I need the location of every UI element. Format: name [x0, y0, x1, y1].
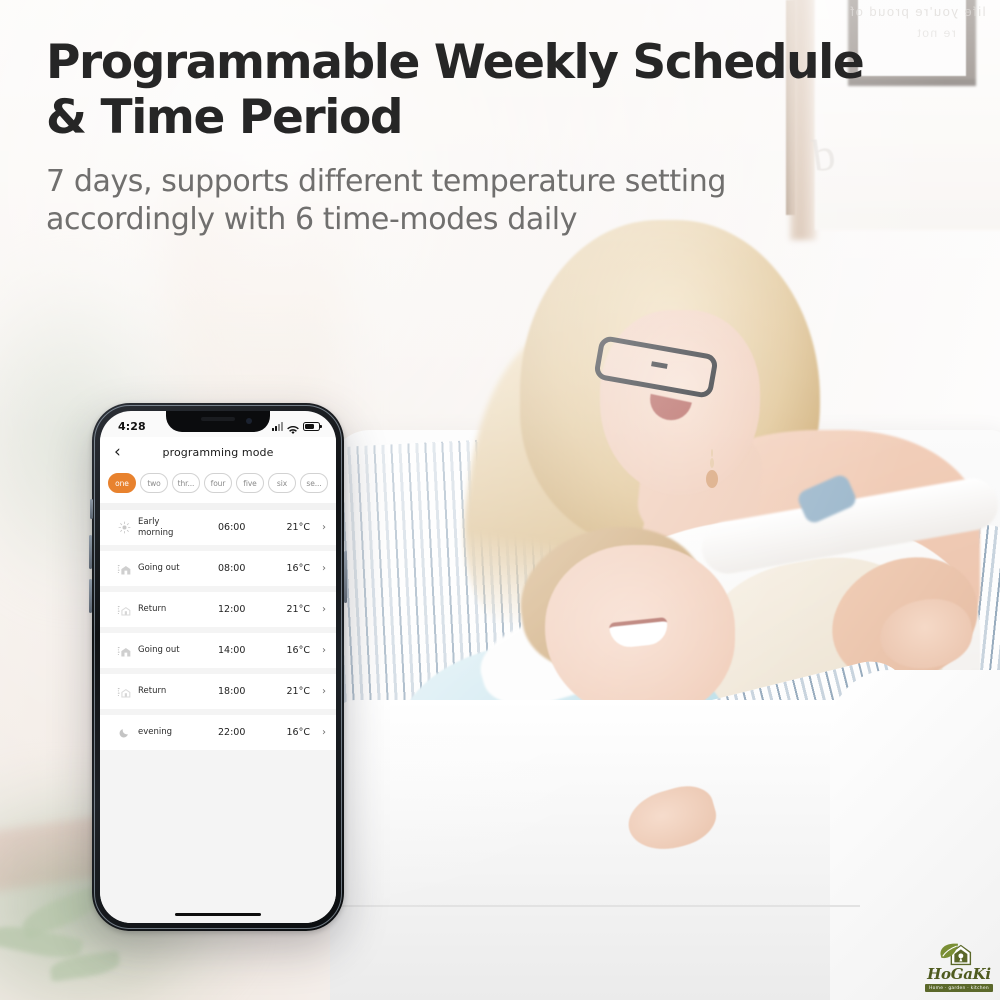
- headline-block: Programmable Weekly Schedule & Time Peri…: [46, 36, 906, 239]
- app-nav-bar: ‹ programming mode: [100, 437, 336, 467]
- schedule-list[interactable]: Early morning06:0021°C›Going out08:0016°…: [100, 510, 336, 756]
- house-leave-icon: [113, 644, 135, 658]
- phone-volume-down-button[interactable]: [89, 579, 92, 613]
- moon-icon: [113, 726, 135, 739]
- schedule-row-label: Return: [135, 686, 218, 696]
- list-top-divider: [100, 503, 336, 510]
- schedule-row-time: 22:00: [218, 727, 270, 738]
- schedule-row-temperature: 21°C: [270, 604, 310, 615]
- schedule-row-temperature: 16°C: [270, 727, 310, 738]
- phone-power-button[interactable]: [344, 551, 347, 603]
- pendant-necklace: [706, 470, 718, 488]
- schedule-row-label: evening: [135, 727, 218, 737]
- day-selector[interactable]: onetwothr...fourfivesixse...: [100, 467, 336, 503]
- day-pill-1[interactable]: one: [108, 473, 136, 493]
- battery-icon: [303, 422, 320, 431]
- status-bar-time: 4:28: [118, 420, 146, 433]
- status-bar: 4:28: [100, 411, 336, 437]
- schedule-row-time: 14:00: [218, 645, 270, 656]
- day-pill-5[interactable]: five: [236, 473, 264, 493]
- logo-tagline: Home · garden · kitchen: [925, 984, 993, 992]
- day-pill-2[interactable]: two: [140, 473, 168, 493]
- phone-mute-switch[interactable]: [90, 499, 93, 519]
- wifi-icon: [287, 422, 299, 431]
- schedule-row-time: 12:00: [218, 604, 270, 615]
- chevron-right-icon[interactable]: ›: [310, 727, 326, 738]
- chevron-right-icon[interactable]: ›: [310, 645, 326, 656]
- house-leave-icon: [113, 562, 135, 576]
- day-pill-6[interactable]: six: [268, 473, 296, 493]
- sun-icon: [113, 521, 135, 534]
- status-bar-icons: [272, 422, 320, 431]
- day-pill-3[interactable]: thr...: [172, 473, 200, 493]
- schedule-row-label: Return: [135, 604, 218, 614]
- schedule-row-temperature: 21°C: [270, 686, 310, 697]
- schedule-row-time: 06:00: [218, 522, 270, 533]
- page-title: Programmable Weekly Schedule & Time Peri…: [46, 36, 906, 145]
- phone-mockup: 4:28 ‹: [92, 403, 344, 931]
- subtitle-line-2: accordingly with 6 time-modes daily: [46, 201, 906, 239]
- schedule-row-label: Going out: [135, 563, 218, 573]
- registered-mark: ®: [976, 969, 979, 974]
- wall-art-text-line1: life you're proud of: [849, 4, 986, 19]
- phone-screen: 4:28 ‹: [100, 411, 336, 923]
- chevron-right-icon[interactable]: ›: [310, 686, 326, 697]
- schedule-row-time: 08:00: [218, 563, 270, 574]
- chevron-right-icon[interactable]: ›: [310, 522, 326, 533]
- schedule-row[interactable]: Going out14:0016°C›: [100, 633, 336, 674]
- schedule-row-time: 18:00: [218, 686, 270, 697]
- wall-art-text-line2: re not: [916, 26, 956, 40]
- schedule-row-temperature: 21°C: [270, 522, 310, 533]
- screen-title: programming mode: [136, 446, 300, 459]
- schedule-row-temperature: 16°C: [270, 563, 310, 574]
- schedule-row[interactable]: evening22:0016°C›: [100, 715, 336, 756]
- back-chevron-icon[interactable]: ‹: [114, 444, 136, 461]
- logo-wordmark: HoGaKi: [927, 967, 991, 982]
- title-line-2: & Time Period: [46, 91, 906, 146]
- house-return-icon: [113, 603, 135, 617]
- day-pill-4[interactable]: four: [204, 473, 232, 493]
- chevron-right-icon[interactable]: ›: [310, 563, 326, 574]
- title-line-1: Programmable Weekly Schedule: [46, 36, 906, 91]
- schedule-row[interactable]: Return18:0021°C›: [100, 674, 336, 715]
- phone-volume-up-button[interactable]: [89, 535, 92, 569]
- sofa-seam: [340, 905, 860, 907]
- home-indicator[interactable]: [175, 913, 261, 916]
- schedule-row-label: Going out: [135, 645, 218, 655]
- schedule-row[interactable]: Return12:0021°C›: [100, 592, 336, 633]
- schedule-row[interactable]: Early morning06:0021°C›: [100, 510, 336, 551]
- schedule-row[interactable]: Going out08:0016°C›: [100, 551, 336, 592]
- brand-logo: ® HoGaKi Home · garden · kitchen: [926, 932, 992, 992]
- day-pill-7[interactable]: se...: [300, 473, 328, 493]
- empty-list-area: [100, 756, 336, 923]
- page-subtitle: 7 days, supports different temperature s…: [46, 163, 906, 239]
- house-return-icon: [113, 685, 135, 699]
- subtitle-line-1: 7 days, supports different temperature s…: [46, 163, 906, 201]
- logo-house-leaf-icon: ®: [937, 941, 981, 967]
- chevron-right-icon[interactable]: ›: [310, 604, 326, 615]
- schedule-row-label: Early morning: [135, 517, 218, 537]
- product-feature-poster: life you're proud of re not b: [0, 0, 1000, 1000]
- cellular-signal-icon: [272, 422, 283, 431]
- schedule-row-temperature: 16°C: [270, 645, 310, 656]
